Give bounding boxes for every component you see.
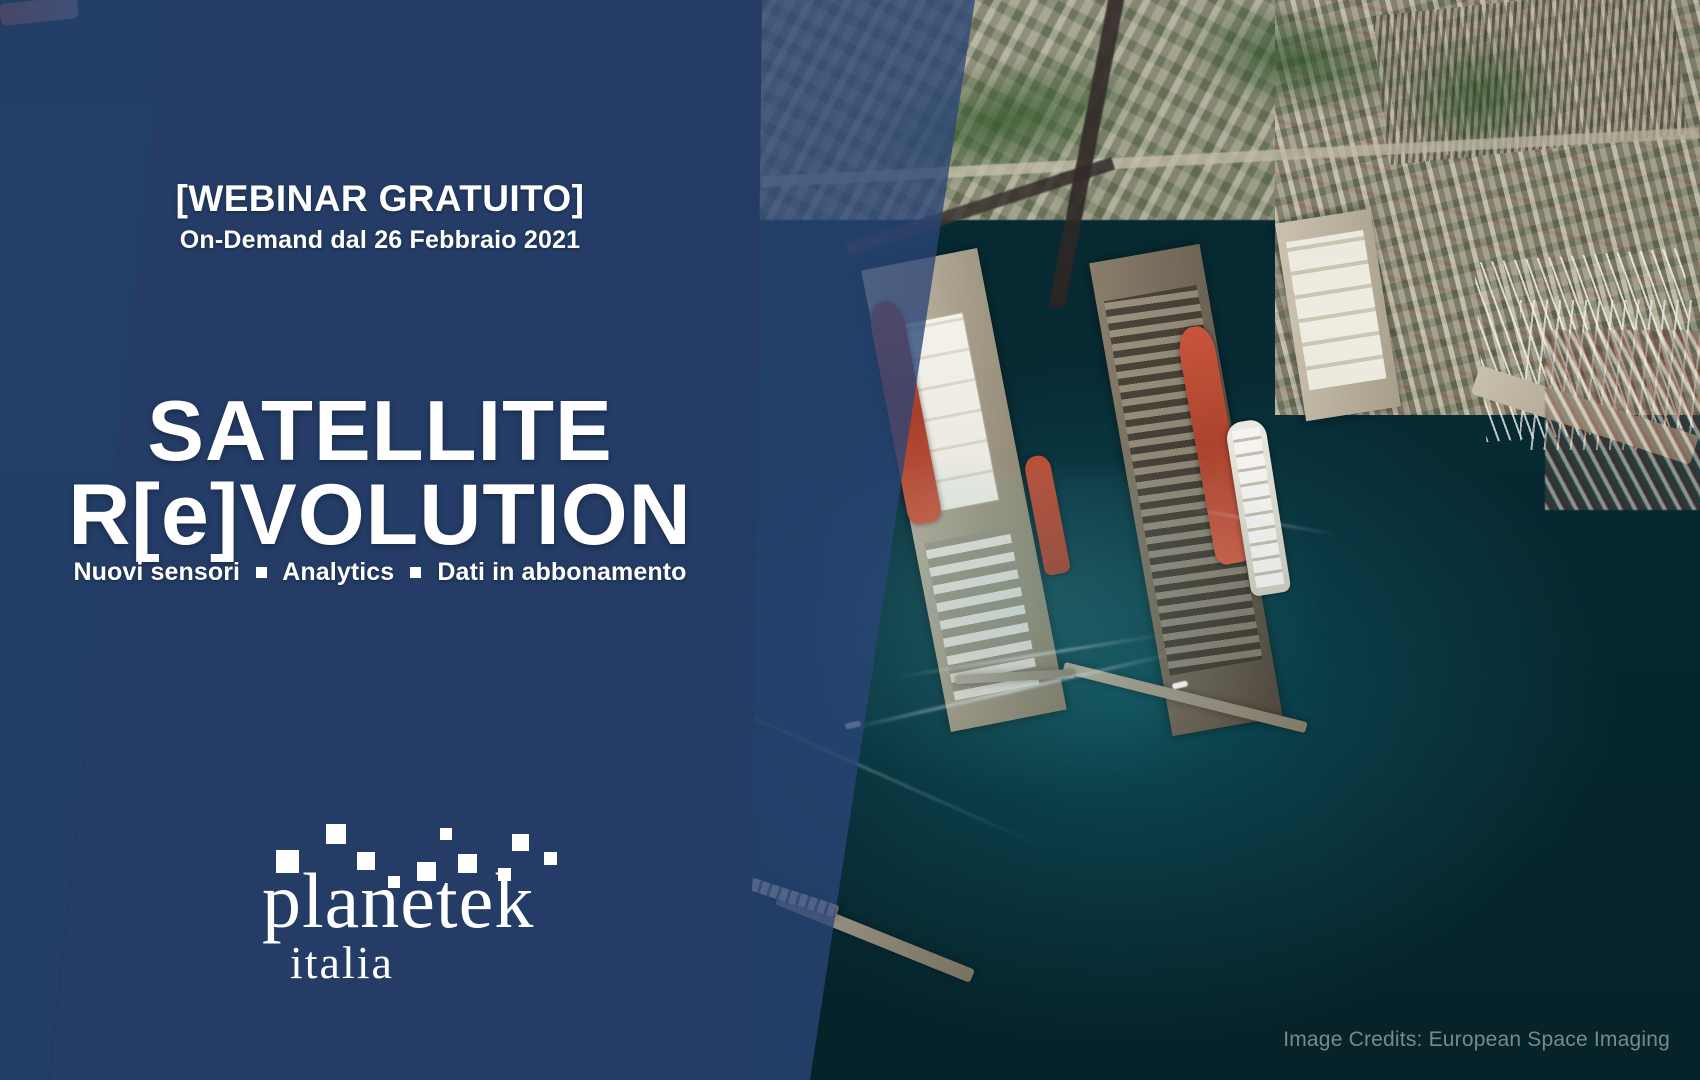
page-title: SATELLITE R[e]VOLUTION <box>0 390 760 558</box>
title-line-2: R[e]VOLUTION <box>0 473 760 557</box>
panel-content: [WEBINAR GRATUITO] On-Demand dal 26 Febb… <box>0 0 760 1080</box>
webinar-subtitle: On-Demand dal 26 Febbraio 2021 <box>0 226 760 255</box>
tagline-item-1: Nuovi sensori <box>73 558 240 586</box>
logo-subword: italia <box>290 940 590 986</box>
square-bullet-icon <box>256 567 267 578</box>
logo-pixel-icon <box>512 834 529 851</box>
promo-banner: [WEBINAR GRATUITO] On-Demand dal 26 Febb… <box>0 0 1700 1080</box>
tagline-item-3: Dati in abbonamento <box>437 558 686 586</box>
tagline: Nuovi sensori Analytics Dati in abboname… <box>0 558 760 587</box>
title-line-1: SATELLITE <box>147 384 612 479</box>
image-credits: Image Credits: European Space Imaging <box>1283 1028 1670 1052</box>
logo-pixel-icon <box>326 824 346 844</box>
logo-pixel-icon <box>440 828 452 840</box>
tagline-item-2: Analytics <box>282 558 394 586</box>
planetek-logo: planetek italia <box>262 810 562 1000</box>
webinar-tag: [WEBINAR GRATUITO] <box>0 178 760 220</box>
square-bullet-icon <box>410 567 421 578</box>
logo-wordmark: planetek <box>262 862 562 940</box>
